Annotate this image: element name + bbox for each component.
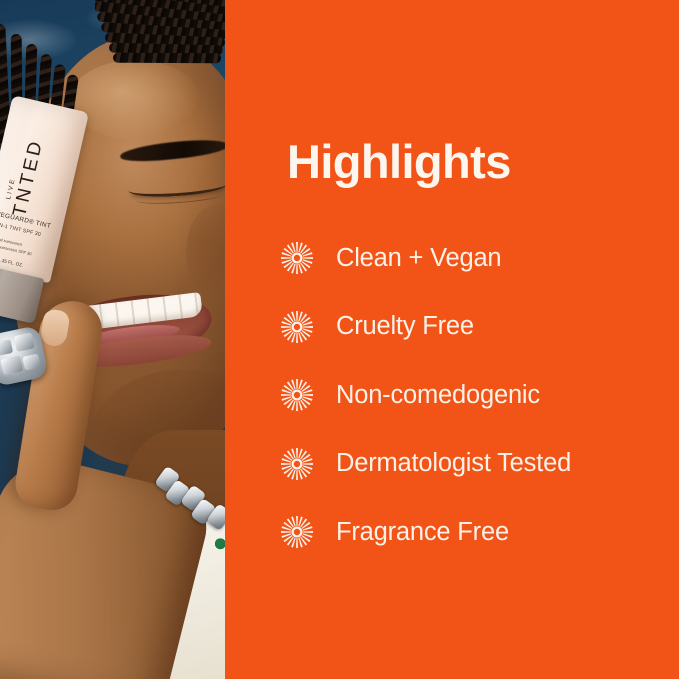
highlight-item-label: Fragrance Free <box>336 518 509 547</box>
lifestyle-photo: TNTED LIVE HUEGUARD® TINT 3-IN-1 TINT SP… <box>0 0 225 679</box>
highlight-item: Cruelty Free <box>278 293 678 362</box>
ring-stone <box>14 332 35 351</box>
highlights-panel: Highlights Clean + VeganCruelty FreeNon-… <box>225 0 679 679</box>
highlight-item-label: Non-comedogenic <box>336 381 540 410</box>
sunburst-icon <box>278 513 316 551</box>
page-title: Highlights <box>287 138 511 185</box>
braided-hair-top <box>95 0 225 116</box>
highlights-list: Clean + VeganCruelty FreeNon-comedogenic… <box>278 224 678 567</box>
highlight-item: Dermatologist Tested <box>278 430 678 499</box>
highlight-item: Non-comedogenic <box>278 361 678 430</box>
highlight-item-label: Dermatologist Tested <box>336 449 571 478</box>
sunburst-icon <box>278 445 316 483</box>
highlight-item-label: Cruelty Free <box>336 312 474 341</box>
highlight-item: Clean + Vegan <box>278 224 678 293</box>
hair-braid <box>113 53 221 64</box>
sunburst-icon <box>278 376 316 414</box>
ring-stone <box>0 355 23 375</box>
sunburst-icon <box>278 239 316 277</box>
ring-stone <box>22 354 41 371</box>
ring-stone <box>0 339 13 356</box>
sunburst-icon <box>278 308 316 346</box>
highlight-item: Fragrance Free <box>278 498 678 567</box>
highlight-item-label: Clean + Vegan <box>336 244 501 273</box>
product-highlights-graphic: TNTED LIVE HUEGUARD® TINT 3-IN-1 TINT SP… <box>0 0 679 679</box>
